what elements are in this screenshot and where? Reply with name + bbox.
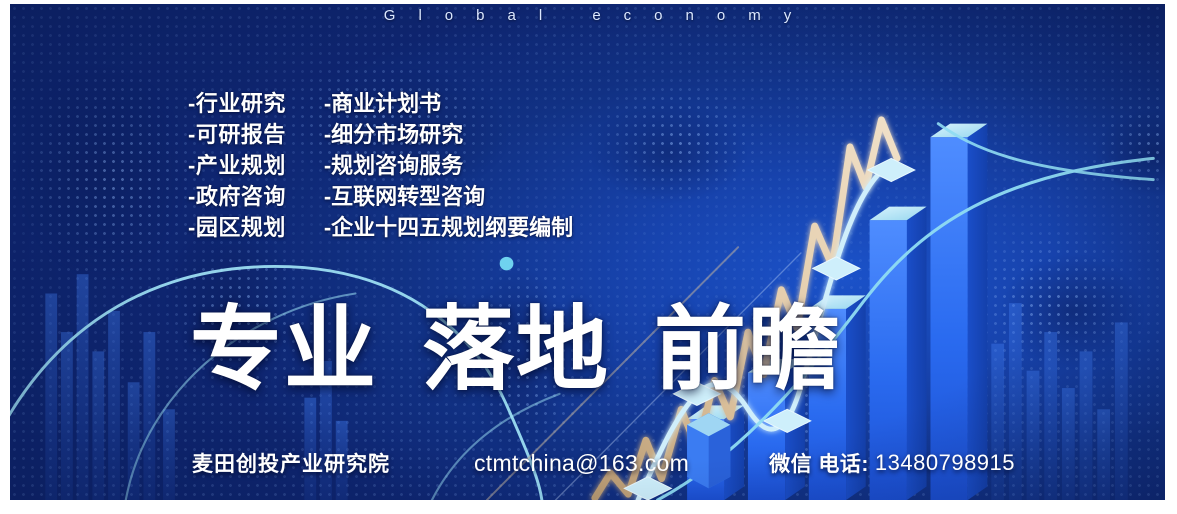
service-item: -细分市场研究 — [324, 121, 573, 149]
marketing-banner: Global economy -行业研究 -可研报告 -产业规划 -政府咨询 -… — [0, 0, 1177, 514]
service-item: -企业十四五规划纲要编制 — [324, 214, 573, 242]
service-item: -产业规划 — [188, 152, 286, 180]
service-item: -规划咨询服务 — [324, 152, 573, 180]
services-column-right: -商业计划书 -细分市场研究 -规划咨询服务 -互联网转型咨询 -企业十四五规划… — [324, 90, 573, 242]
top-wordmark: Global economy — [10, 7, 1165, 24]
footer-contact-row: 麦田创投产业研究院 ctmtchina@163.com 微信 电话: 13480… — [192, 448, 1015, 478]
service-item: -行业研究 — [188, 90, 286, 118]
headline-word: 落地 — [422, 304, 610, 396]
headline-word: 专业 — [190, 304, 378, 396]
services-column-left: -行业研究 -可研报告 -产业规划 -政府咨询 -园区规划 — [188, 90, 286, 242]
service-item: -商业计划书 — [324, 90, 573, 118]
vignette-overlay — [10, 4, 1165, 500]
service-item: -园区规划 — [188, 214, 286, 242]
service-item: -互联网转型咨询 — [324, 183, 573, 211]
services-lists: -行业研究 -可研报告 -产业规划 -政府咨询 -园区规划 -商业计划书 -细分… — [188, 90, 573, 242]
phone-number: 13480798915 — [875, 450, 1015, 476]
headline: 专业 落地 前瞻 — [190, 304, 842, 396]
organization-name: 麦田创投产业研究院 — [192, 448, 390, 478]
banner-stage: Global economy -行业研究 -可研报告 -产业规划 -政府咨询 -… — [10, 4, 1165, 500]
headline-word: 前瞻 — [654, 304, 842, 396]
service-item: -政府咨询 — [188, 183, 286, 211]
contact-label: 微信 电话: — [769, 448, 869, 478]
email-address: ctmtchina@163.com — [474, 450, 689, 477]
service-item: -可研报告 — [188, 121, 286, 149]
